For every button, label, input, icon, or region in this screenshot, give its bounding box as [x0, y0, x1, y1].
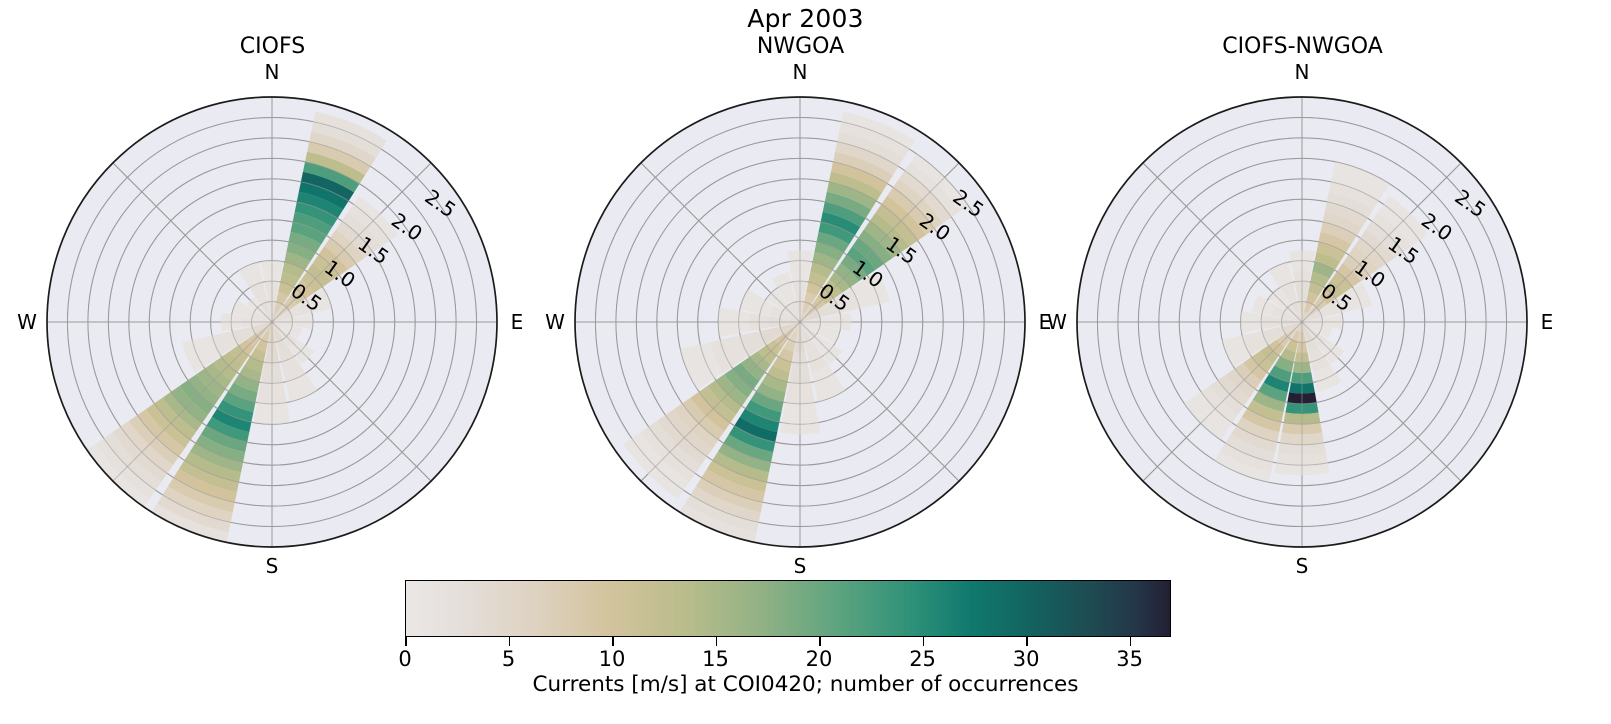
colorbar-tick [1130, 637, 1132, 646]
colorbar-tick-label: 5 [479, 647, 539, 671]
colorbar-tick-axis: 05101520253035 [0, 637, 1611, 638]
colorbar-tick-label: 10 [582, 647, 642, 671]
colorbar[interactable] [405, 580, 1171, 637]
compass-label-s: S [266, 554, 279, 578]
compass-label-s: S [1296, 554, 1309, 578]
compass-label-n: N [793, 60, 808, 84]
colorbar-tick-label: 15 [686, 647, 746, 671]
compass-label-w: W [545, 310, 565, 334]
colorbar-tick-label: 20 [789, 647, 849, 671]
colorbar-tick [923, 637, 925, 646]
compass-label-s: S [794, 554, 807, 578]
colorbar-gradient[interactable] [405, 580, 1171, 637]
colorbar-tick-label: 0 [375, 647, 435, 671]
rose-plot-ciofs[interactable]: 0.51.01.52.02.5NSWE [4, 0, 541, 590]
colorbar-tick [509, 637, 511, 646]
rose-plot-ciofs-nwgoa[interactable]: 0.51.01.52.02.5NSWE [1034, 0, 1571, 590]
colorbar-tick [612, 637, 614, 646]
compass-label-n: N [1295, 60, 1310, 84]
polar-panel-ciofs-nwgoa[interactable]: CIOFS-NWGOA 0.51.01.52.02.5NSWE [1034, 0, 1571, 590]
colorbar-tick [819, 637, 821, 646]
colorbar-label: Currents [m/s] at COI0420; number of occ… [0, 672, 1611, 697]
compass-label-n: N [265, 60, 280, 84]
colorbar-tick-label: 30 [996, 647, 1056, 671]
colorbar-tick [1026, 637, 1028, 646]
polar-panel-nwgoa[interactable]: NWGOA 0.51.01.52.02.5NSWE [532, 0, 1069, 590]
figure-canvas: Apr 2003 CIOFS 0.51.01.52.02.5NSWE NWGOA… [0, 0, 1611, 724]
colorbar-tick-label: 35 [1100, 647, 1160, 671]
colorbar-tick [405, 637, 407, 646]
polar-panel-ciofs[interactable]: CIOFS 0.51.01.52.02.5NSWE [4, 0, 541, 590]
compass-label-w: W [1047, 310, 1067, 334]
compass-label-w: W [17, 310, 37, 334]
compass-label-e: E [1541, 310, 1554, 334]
colorbar-tick [716, 637, 718, 646]
rose-plot-nwgoa[interactable]: 0.51.01.52.02.5NSWE [532, 0, 1069, 590]
colorbar-tick-label: 25 [893, 647, 953, 671]
compass-label-e: E [511, 310, 524, 334]
